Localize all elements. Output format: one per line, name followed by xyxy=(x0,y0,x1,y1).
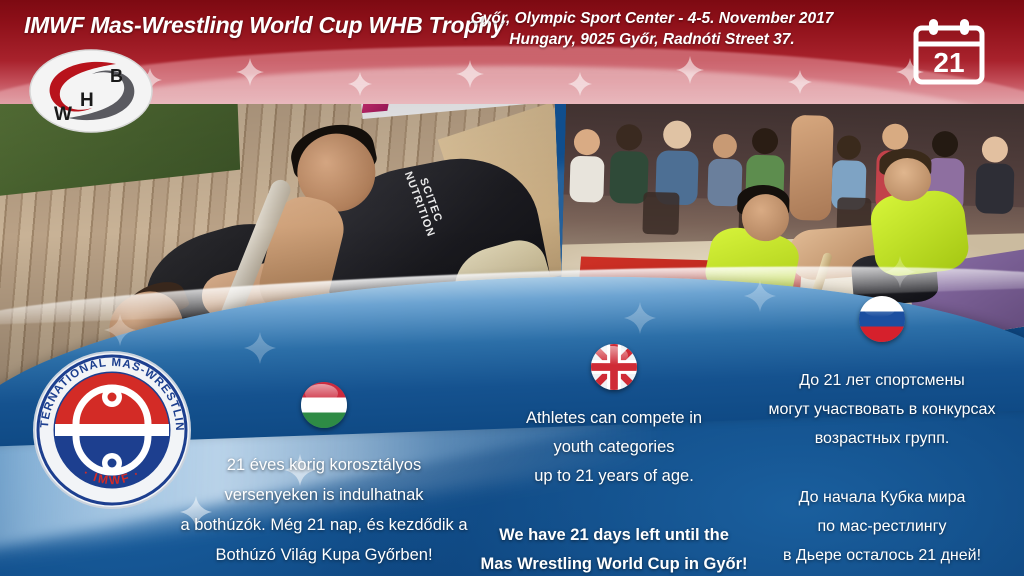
hungarian-line-2: versenyeken is indulhatnak xyxy=(178,480,470,510)
russian-text-secondary: До начала Кубка мира по мас-рестлингу в … xyxy=(740,483,1024,570)
column-hungarian: 21 éves korig korosztályos versenyeken i… xyxy=(178,382,470,570)
english-text-secondary: We have 21 days left until the Mas Wrest… xyxy=(466,521,762,576)
hungarian-line-3: a bothúzók. Még 21 nap, és kezdődik a xyxy=(178,510,470,540)
venue-line-1: Győr, Olympic Sport Center - 4-5. Novemb… xyxy=(456,8,848,29)
english-line2-1: We have 21 days left until the xyxy=(466,521,762,550)
english-line-1: Athletes can compete in xyxy=(466,404,762,433)
svg-text:B: B xyxy=(110,66,123,86)
hungarian-line-4: Bothúzó Világ Kupa Győrben! xyxy=(178,540,470,570)
venue-info: Győr, Olympic Sport Center - 4-5. Novemb… xyxy=(456,8,848,50)
page-title: IMWF Mas-Wrestling World Cup WHB Trophy xyxy=(24,12,504,39)
svg-text:W: W xyxy=(54,104,72,125)
poster-root: Szilágyi Informatikai 2Kft. SCITECNUTRIT… xyxy=(0,0,1024,576)
russian-line2-2: по мас-рестлингу xyxy=(740,512,1024,541)
russian-line2-3: в Дьере осталось 21 дней! xyxy=(740,541,1024,570)
russian-line-3: возрастных групп. xyxy=(740,424,1024,453)
russian-line-2: могут участвовать в конкурсах xyxy=(740,395,1024,424)
united-kingdom-flag-icon xyxy=(591,344,637,390)
english-line-2: youth categories xyxy=(466,433,762,462)
hungarian-text: 21 éves korig korosztályos versenyeken i… xyxy=(178,450,470,570)
russian-line2-1: До начала Кубка мира xyxy=(740,483,1024,512)
hungary-flag-icon xyxy=(301,382,347,428)
russian-line-1: До 21 лет спортсмены xyxy=(740,366,1024,395)
russian-text-primary: До 21 лет спортсмены могут участвовать в… xyxy=(740,366,1024,453)
russia-flag-icon xyxy=(859,296,905,342)
calendar-number: 21 xyxy=(933,47,964,78)
calendar-icon: 21 xyxy=(910,16,988,88)
column-english: Athletes can compete in youth categories… xyxy=(466,344,762,576)
whb-trophy-logo: W H B xyxy=(28,48,154,134)
english-text-primary: Athletes can compete in youth categories… xyxy=(466,404,762,491)
hungarian-line-1: 21 éves korig korosztályos xyxy=(178,450,470,480)
imwf-federation-logo: INTERNATIONAL MAS-WRESTLING · IMWF · xyxy=(32,350,192,510)
svg-text:H: H xyxy=(80,90,94,111)
venue-line-2: Hungary, 9025 Győr, Radnóti Street 37. xyxy=(456,29,848,50)
english-line2-2: Mas Wrestling World Cup in Győr! xyxy=(466,550,762,576)
english-line-3: up to 21 years of age. xyxy=(466,462,762,491)
column-russian: До 21 лет спортсмены могут участвовать в… xyxy=(740,296,1024,570)
